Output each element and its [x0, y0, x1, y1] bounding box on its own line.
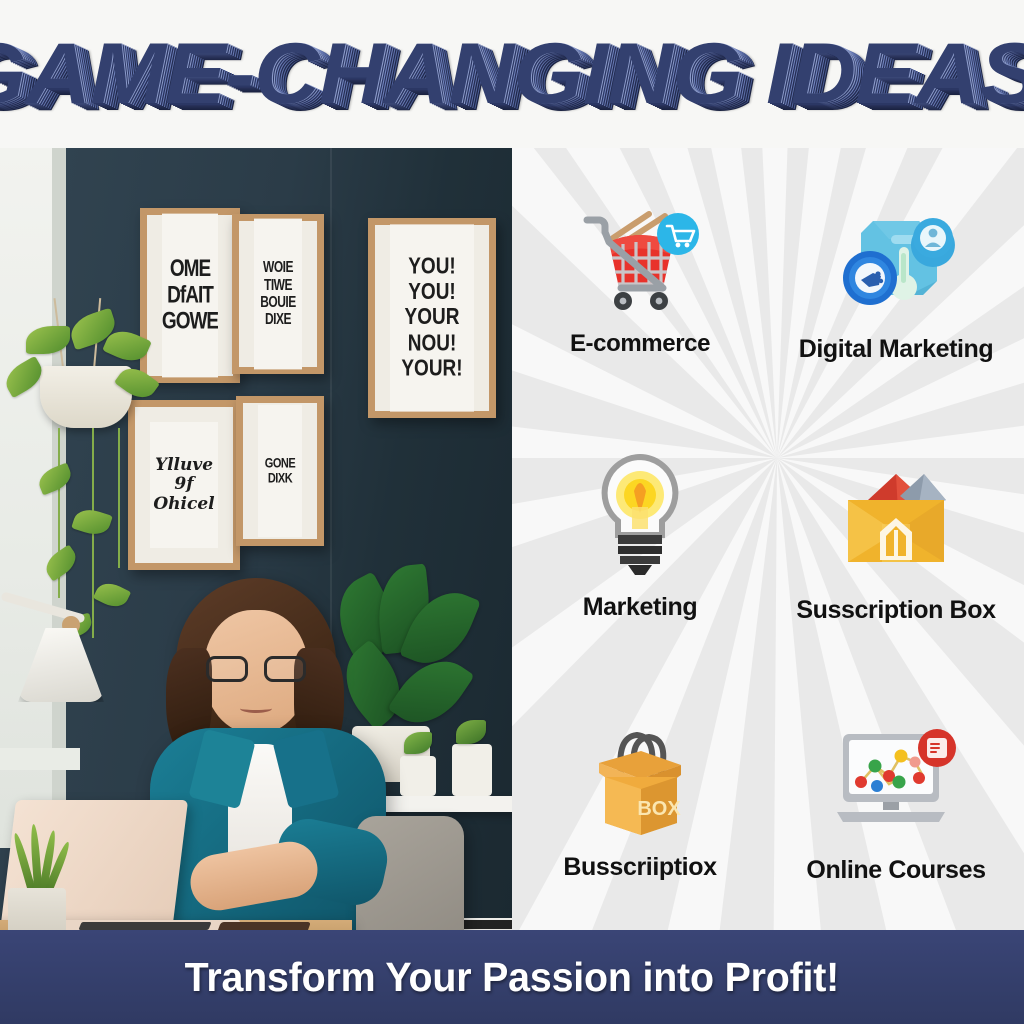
poster-text: Ylluve 9f Ohicel [150, 422, 218, 548]
cardboard-box-icon: BOX [577, 717, 703, 837]
hero-photo: OME DfAIT GOWE WOIE TIWE BOUIE DIXE YOU!… [0, 148, 512, 930]
footer-tagline: Transform Your Passion into Profit! [185, 954, 839, 1001]
body-area: OME DfAIT GOWE WOIE TIWE BOUIE DIXE YOU!… [0, 148, 1024, 930]
idea-card-subscription-box[interactable]: Susscription Box [768, 409, 1024, 670]
ideas-panel: E-commerce [512, 148, 1024, 930]
glasses-lens [206, 656, 248, 682]
framed-poster-4: Ylluve 9f Ohicel [128, 400, 240, 570]
idea-label: Digital Marketing [799, 335, 994, 364]
idea-label: Busscriiptiox [563, 853, 716, 882]
poster-text: OME DfAIT GOWE [162, 214, 218, 378]
idea-label: E-commerce [570, 330, 710, 358]
idea-card-marketing[interactable]: Marketing [512, 409, 768, 670]
idea-card-ecommerce[interactable]: E-commerce [512, 148, 768, 409]
plant-vine [118, 428, 120, 568]
footer-banner: Transform Your Passion into Profit! [0, 930, 1024, 1024]
svg-text:BOX: BOX [637, 798, 681, 820]
header-banner: GAME-CHANGING IDEAS! [0, 0, 1024, 148]
lightbulb-icon [588, 455, 692, 575]
eyeglasses-icon [206, 656, 306, 682]
infographic-poster: GAME-CHANGING IDEAS! OME DfAIT GOWE WOIE… [0, 0, 1024, 1024]
idea-label: Online Courses [806, 856, 985, 885]
shopping-cart-icon [579, 198, 701, 318]
glasses-lens [264, 656, 306, 682]
laptop-network-icon [831, 714, 961, 834]
person-smile [240, 704, 272, 713]
poster-text: WOIE TIWE BOUIE DIXE [254, 219, 302, 370]
digital-marketing-icon [837, 193, 955, 313]
idea-label: Marketing [583, 593, 697, 622]
idea-card-box[interactable]: BOX Busscriiptiox [512, 669, 768, 930]
window [0, 148, 60, 848]
framed-poster-1: OME DfAIT GOWE [140, 208, 240, 383]
succulent-pot [452, 744, 492, 796]
framed-poster-2: WOIE TIWE BOUIE DIXE [232, 214, 324, 374]
idea-card-online-courses[interactable]: Online Courses [768, 669, 1024, 930]
window-sill [0, 748, 80, 770]
idea-card-digital-marketing[interactable]: Digital Marketing [768, 148, 1024, 409]
wall-corner [330, 148, 332, 708]
poster-text: GONE DIXK [258, 405, 302, 538]
succulent-pot [400, 756, 436, 796]
poster-text: YOU! YOU! YOUR NOU! YOUR! [390, 224, 474, 411]
framed-poster-3: YOU! YOU! YOUR NOU! YOUR! [368, 218, 496, 418]
page-title: GAME-CHANGING IDEAS! [0, 25, 1024, 124]
open-gift-box-icon [838, 452, 954, 572]
framed-poster-5: GONE DIXK [236, 396, 324, 546]
idea-label: Susscription Box [796, 596, 995, 625]
notebook-on-desk [215, 922, 311, 930]
idea-grid: E-commerce [512, 148, 1024, 930]
laptop-keyboard [78, 922, 211, 930]
wall-shelf [382, 796, 512, 812]
desk-plant-pot [8, 888, 66, 930]
